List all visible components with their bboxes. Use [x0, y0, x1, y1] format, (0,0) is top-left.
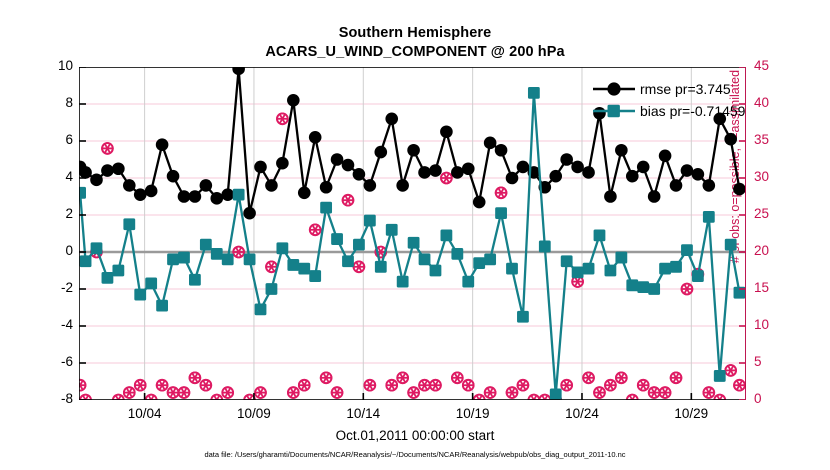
- obs-assimilated-marker: [496, 187, 507, 198]
- rmse-point-marker: [210, 192, 223, 205]
- legend-item-rmse: rmse pr=3.745: [591, 78, 745, 100]
- rmse-point-marker: [615, 144, 628, 157]
- obs-assimilated-marker: [310, 224, 321, 235]
- title-line-2: ACARS_U_WIND_COMPONENT @ 200 hPa: [0, 43, 830, 62]
- bias-point-marker: [659, 263, 671, 275]
- chart-title: Southern Hemisphere ACARS_U_WIND_COMPONE…: [0, 24, 830, 62]
- bias-point-marker: [145, 278, 157, 290]
- rmse-point-marker: [626, 170, 639, 183]
- y-tick-label: 6: [33, 132, 73, 147]
- bias-point-marker: [331, 233, 343, 245]
- obs-assimilated-marker: [190, 372, 201, 383]
- y2-tick-label: 45: [754, 58, 794, 73]
- bias-point-marker: [703, 211, 715, 223]
- bias-point-marker: [123, 218, 135, 230]
- rmse-point-marker: [407, 144, 420, 157]
- obs-assimilated-marker: [222, 387, 233, 398]
- obs-assimilated-marker: [321, 372, 332, 383]
- bias-point-marker: [298, 263, 310, 275]
- bias-point-marker: [353, 239, 365, 251]
- rmse-point-marker: [451, 166, 464, 179]
- x-tick-label: 10/29: [651, 406, 731, 421]
- obs-assimilated-marker: [463, 380, 474, 391]
- rmse-point-marker: [374, 146, 387, 159]
- obs-assimilated-marker: [135, 380, 146, 391]
- rmse-point-marker: [276, 157, 289, 170]
- x-tick-label: 10/04: [105, 406, 185, 421]
- obs-assimilated-marker: [343, 195, 354, 206]
- obs-assimilated-marker: [157, 380, 168, 391]
- bias-point-marker: [626, 279, 638, 291]
- rmse-point-marker: [221, 188, 234, 201]
- obs-assimilated-marker: [725, 365, 736, 376]
- rmse-point-marker: [517, 161, 530, 174]
- bias-point-marker: [561, 255, 573, 267]
- rmse-point-marker: [571, 161, 584, 174]
- legend-item-bias: bias pr=-0.71459: [591, 100, 745, 122]
- rmse-point-marker: [440, 125, 453, 138]
- obs-assimilated-marker: [364, 380, 375, 391]
- bias-point-marker: [605, 265, 617, 277]
- rmse-point-marker: [320, 181, 333, 194]
- bias-point-marker: [309, 270, 321, 282]
- obs-assimilated-marker: [113, 395, 124, 400]
- bias-point-marker: [178, 252, 190, 264]
- obs-assimilated-marker: [124, 387, 135, 398]
- bias-point-marker: [102, 272, 114, 284]
- bias-point-marker: [473, 257, 485, 269]
- y-tick-label: -4: [33, 317, 73, 332]
- y-tick-label: 2: [33, 206, 73, 221]
- bias-point-marker: [594, 229, 606, 241]
- obs-assimilated-marker: [255, 387, 266, 398]
- rmse-point-marker: [342, 159, 355, 172]
- obs-assimilated-marker: [703, 387, 714, 398]
- y-tick-label: -6: [33, 354, 73, 369]
- bias-point-marker: [528, 87, 540, 99]
- bias-point-marker: [725, 239, 737, 251]
- bias-point-marker: [692, 270, 704, 282]
- bias-point-marker: [440, 229, 452, 241]
- rmse-point-marker: [364, 179, 377, 192]
- rmse-point-marker: [167, 170, 180, 183]
- bias-point-marker: [550, 389, 562, 400]
- obs-assimilated-marker: [397, 372, 408, 383]
- y-tick-label: 8: [33, 95, 73, 110]
- obs-assimilated-marker: [539, 395, 550, 400]
- y2-tick-label: 15: [754, 280, 794, 295]
- obs-assimilated-marker: [179, 387, 190, 398]
- obs-assimilated-marker: [419, 380, 430, 391]
- rmse-point-marker: [462, 162, 475, 175]
- bias-point-marker: [419, 254, 431, 266]
- bias-point-marker: [222, 254, 234, 266]
- obs-assimilated-marker: [408, 387, 419, 398]
- x-tick-label: 10/24: [542, 406, 622, 421]
- bias-point-marker: [200, 239, 212, 251]
- bias-point-marker: [451, 248, 463, 260]
- obs-assimilated-marker: [211, 395, 222, 400]
- bias-point-marker: [637, 281, 649, 293]
- bias-point-marker: [320, 202, 332, 214]
- rmse-point-marker: [637, 161, 650, 174]
- obs-assimilated-marker: [583, 372, 594, 383]
- obs-assimilated-marker: [102, 143, 113, 154]
- y2-tick-label: 35: [754, 132, 794, 147]
- y-tick-label: -8: [33, 391, 73, 406]
- rmse-point-marker: [331, 153, 344, 166]
- rmse-point-marker: [123, 179, 136, 192]
- obs-assimilated-marker: [332, 387, 343, 398]
- rmse-point-marker: [429, 164, 442, 177]
- bias-point-marker: [342, 255, 354, 267]
- obs-assimilated-marker: [277, 113, 288, 124]
- obs-assimilated-marker: [288, 387, 299, 398]
- obs-assimilated-marker: [638, 380, 649, 391]
- obs-assimilated-marker: [485, 387, 496, 398]
- bias-point-marker: [670, 261, 682, 273]
- rmse-point-marker: [79, 166, 92, 179]
- bias-marker-icon: [591, 101, 637, 121]
- bias-point-marker: [156, 300, 168, 312]
- obs-assimilated-marker: [354, 261, 365, 272]
- rmse-point-marker: [692, 168, 705, 181]
- bias-point-marker: [189, 274, 201, 286]
- obs-assimilated-marker: [452, 372, 463, 383]
- rmse-point-marker: [506, 172, 519, 185]
- obs-assimilated-marker: [660, 387, 671, 398]
- bias-point-marker: [517, 311, 529, 323]
- bias-point-marker: [583, 263, 595, 275]
- rmse-point-marker: [298, 187, 311, 200]
- rmse-point-marker: [309, 131, 322, 144]
- obs-assimilated-marker: [168, 387, 179, 398]
- rmse-point-marker: [648, 190, 661, 203]
- x-axis-label: Oct.01,2011 00:00:00 start: [0, 428, 830, 443]
- obs-assimilated-marker: [386, 380, 397, 391]
- y2-tick-label: 5: [754, 354, 794, 369]
- chart-legend: rmse pr=3.745 bias pr=-0.71459: [591, 78, 745, 122]
- bias-point-marker: [462, 276, 474, 288]
- y2-tick-label: 40: [754, 95, 794, 110]
- rmse-point-marker: [385, 113, 398, 126]
- rmse-point-marker: [243, 207, 256, 220]
- obs-assimilated-marker: [682, 284, 693, 295]
- bias-point-marker: [495, 207, 507, 219]
- rmse-point-marker: [484, 137, 497, 150]
- rmse-point-marker: [670, 179, 683, 192]
- rmse-point-marker: [287, 94, 300, 107]
- obs-assimilated-marker: [605, 380, 616, 391]
- rmse-point-marker: [495, 144, 508, 157]
- obs-assimilated-marker: [518, 380, 529, 391]
- obs-assimilated-marker: [474, 395, 485, 400]
- chart-figure: Southern Hemisphere ACARS_U_WIND_COMPONE…: [0, 0, 830, 470]
- x-tick-label: 10/19: [433, 406, 513, 421]
- bias-point-marker: [375, 261, 387, 273]
- rmse-point-marker: [604, 190, 617, 203]
- y2-tick-label: 30: [754, 169, 794, 184]
- bias-point-marker: [80, 255, 92, 267]
- y-tick-label: 4: [33, 169, 73, 184]
- bias-point-marker: [276, 242, 288, 254]
- bias-point-marker: [134, 289, 146, 301]
- y2-tick-label: 10: [754, 317, 794, 332]
- obs-assimilated-marker: [616, 372, 627, 383]
- bias-point-marker: [233, 189, 245, 201]
- obs-assimilated-marker: [649, 387, 660, 398]
- obs-assimilated-marker: [734, 380, 745, 391]
- obs-assimilated-marker: [528, 395, 539, 400]
- title-line-1: Southern Hemisphere: [0, 24, 830, 43]
- data-file-footer: data file: /Users/gharamti/Documents/NCA…: [0, 450, 830, 459]
- bias-point-marker: [91, 242, 103, 254]
- obs-assimilated-marker: [507, 387, 518, 398]
- rmse-point-marker: [724, 133, 737, 146]
- y-tick-label: 0: [33, 243, 73, 258]
- obs-assimilated-marker: [79, 380, 85, 391]
- rmse-point-marker: [156, 138, 169, 151]
- obs-assimilated-marker: [80, 395, 91, 400]
- obs-assimilated-marker: [146, 395, 157, 400]
- bias-point-marker: [397, 276, 409, 288]
- bias-point-marker: [714, 370, 726, 382]
- rmse-marker-icon: [591, 79, 637, 99]
- bias-point-marker: [648, 283, 660, 295]
- rmse-point-marker: [473, 196, 486, 209]
- rmse-point-marker: [112, 162, 125, 175]
- bias-point-marker: [266, 283, 278, 295]
- obs-assimilated-marker: [627, 395, 638, 400]
- bias-point-marker: [615, 252, 627, 264]
- rmse-point-marker: [353, 168, 366, 181]
- y-tick-label: -2: [33, 280, 73, 295]
- rmse-point-marker: [265, 179, 278, 192]
- bias-point-marker: [386, 224, 398, 236]
- rmse-point-marker: [254, 161, 267, 174]
- rmse-point-marker: [232, 67, 245, 75]
- x-tick-label: 10/14: [323, 406, 403, 421]
- rmse-point-marker: [733, 183, 746, 196]
- rmse-point-marker: [681, 164, 694, 177]
- obs-assimilated-marker: [594, 387, 605, 398]
- obs-assimilated-marker: [441, 173, 452, 184]
- x-tick-label: 10/09: [214, 406, 294, 421]
- y2-tick-label: 0: [754, 391, 794, 406]
- bias-point-marker: [364, 215, 376, 227]
- rmse-point-marker: [200, 179, 213, 192]
- bias-point-marker: [211, 248, 223, 260]
- bias-point-marker: [112, 265, 124, 277]
- y2-tick-label: 20: [754, 243, 794, 258]
- bias-point-marker: [255, 303, 267, 315]
- bias-point-marker: [287, 259, 299, 271]
- obs-assimilated-marker: [430, 380, 441, 391]
- rmse-point-marker: [418, 166, 431, 179]
- rmse-point-marker: [145, 185, 158, 198]
- bias-point-marker: [79, 187, 86, 199]
- bias-point-marker: [506, 263, 518, 275]
- rmse-point-marker: [101, 164, 114, 177]
- rmse-point-marker: [582, 166, 595, 179]
- bias-point-marker: [408, 237, 420, 249]
- rmse-point-marker: [659, 150, 672, 163]
- legend-label-rmse: rmse pr=3.745: [640, 81, 731, 97]
- legend-label-bias: bias pr=-0.71459: [640, 103, 745, 119]
- rmse-point-marker: [134, 188, 147, 201]
- rmse-point-marker: [703, 179, 716, 192]
- bias-point-marker: [430, 265, 442, 277]
- bias-point-marker: [681, 244, 693, 256]
- rmse-point-marker: [90, 174, 103, 187]
- rmse-point-marker: [549, 170, 562, 183]
- rmse-point-marker: [178, 190, 191, 203]
- obs-assimilated-marker: [561, 380, 572, 391]
- rmse-point-marker: [189, 190, 202, 203]
- obs-assimilated-marker: [714, 395, 725, 400]
- bias-point-marker: [539, 241, 551, 253]
- obs-assimilated-marker: [299, 380, 310, 391]
- rmse-point-marker: [396, 179, 409, 192]
- bias-point-marker: [167, 254, 179, 266]
- obs-assimilated-marker: [200, 380, 211, 391]
- bias-point-marker: [572, 266, 584, 278]
- obs-assimilated-marker: [233, 247, 244, 258]
- bias-point-marker: [244, 254, 256, 266]
- rmse-point-marker: [560, 153, 573, 166]
- bias-point-marker: [484, 254, 496, 266]
- obs-assimilated-marker: [671, 372, 682, 383]
- y2-tick-label: 25: [754, 206, 794, 221]
- y-tick-label: 10: [33, 58, 73, 73]
